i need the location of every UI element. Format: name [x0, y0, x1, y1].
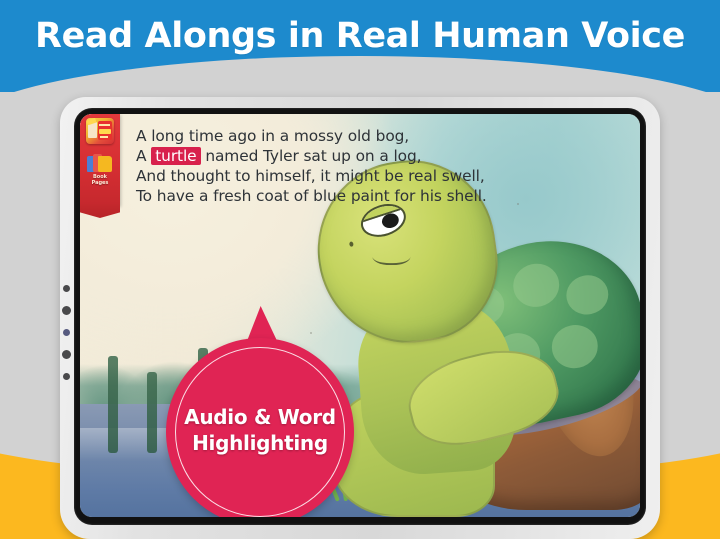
- app-icon-text-block: [99, 129, 111, 134]
- story-text: A long time ago in a mossy old bog, A tu…: [136, 126, 595, 206]
- turtle-mouth: [372, 247, 410, 265]
- page-title: Read Alongs in Real Human Voice: [0, 16, 720, 56]
- app-icon-text-line: [99, 124, 110, 126]
- audio-highlight-callout: Audio & Word Highlighting: [166, 338, 354, 517]
- side-button-3[interactable]: [63, 329, 70, 336]
- side-button-2[interactable]: [62, 306, 71, 315]
- header-banner: Read Alongs in Real Human Voice: [0, 0, 720, 92]
- app-sidebar-ribbon: Book Pages: [80, 114, 120, 206]
- story-line-2: A turtle named Tyler sat up on a log,: [136, 146, 595, 166]
- book-pages-label: Book Pages: [85, 174, 115, 186]
- side-button-1[interactable]: [63, 285, 70, 292]
- folder-sheet-yellow: [98, 156, 112, 172]
- tablet-device: A long time ago in a mossy old bog, A tu…: [60, 97, 660, 539]
- side-button-5[interactable]: [63, 373, 70, 380]
- shell-scute: [548, 320, 602, 371]
- folder-pages-icon: [87, 154, 113, 173]
- story-line-3: And thought to himself, it might be real…: [136, 166, 595, 186]
- highlighted-word[interactable]: turtle: [151, 147, 200, 165]
- shell-scute: [510, 259, 564, 310]
- shell-scute: [563, 271, 612, 318]
- reed: [147, 372, 157, 453]
- tablet-side-buttons[interactable]: [63, 285, 70, 385]
- side-button-4[interactable]: [62, 350, 71, 359]
- english-rhyme-app-icon[interactable]: [86, 118, 114, 144]
- app-icon-text-line: [100, 136, 108, 138]
- callout-text: Audio & Word Highlighting: [166, 404, 354, 456]
- reed: [108, 356, 118, 453]
- turtle-nostril: [349, 242, 354, 248]
- story-line-1: A long time ago in a mossy old bog,: [136, 126, 595, 146]
- book-pages-button[interactable]: Book Pages: [85, 154, 115, 188]
- tablet-screen: A long time ago in a mossy old bog, A tu…: [80, 114, 640, 517]
- tablet-bezel: A long time ago in a mossy old bog, A tu…: [74, 108, 646, 525]
- story-line-4: To have a fresh coat of blue paint for h…: [136, 186, 595, 206]
